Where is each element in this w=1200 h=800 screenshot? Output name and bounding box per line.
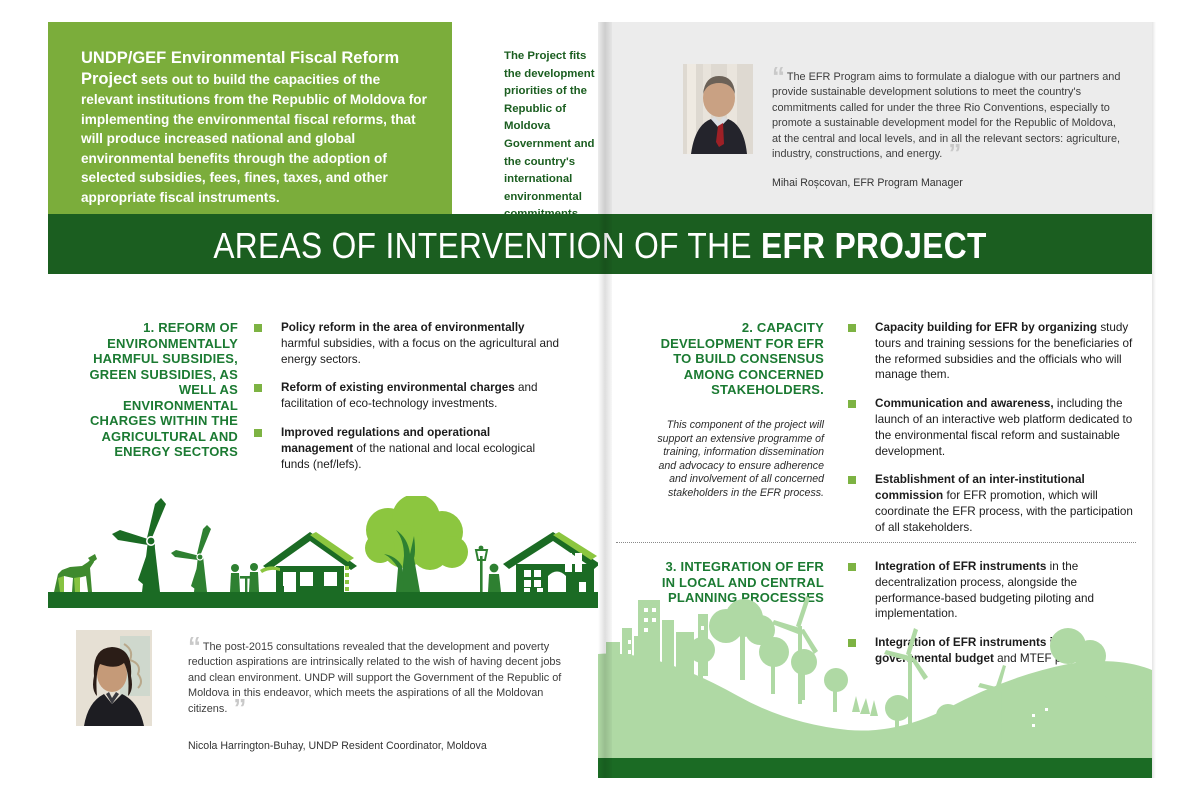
list-item: Improved regulations and operational man… xyxy=(254,425,564,472)
lamp-and-person-icon xyxy=(476,546,501,592)
title-emphasis: EFR PROJECT xyxy=(761,225,987,266)
right-page: 2. CAPACITY DEVELOPMENT FOR EFR TO BUILD… xyxy=(598,274,1152,778)
quote-close-mark: ” xyxy=(233,693,245,723)
intro-rest: sets out to build the capacities of the … xyxy=(81,72,427,205)
avatar-nicola-harrington-buhay xyxy=(76,630,152,726)
top-quote-attribution: Mihai Roșcovan, EFR Program Manager xyxy=(772,177,963,189)
intro-paragraph: UNDP/GEF Environmental Fiscal Reform Pro… xyxy=(81,48,431,207)
village-illustration xyxy=(48,496,598,608)
top-quote-panel: “ The EFR Program aims to formulate a di… xyxy=(598,22,1152,214)
section2-bullets: Capacity building for EFR by organizing … xyxy=(848,320,1140,549)
quote-close-mark: ” xyxy=(948,138,960,168)
page-title: AREAS OF INTERVENTION OF THE EFR PROJECT xyxy=(114,225,1086,267)
avatar-mihai-roscovan xyxy=(683,64,753,154)
list-item: Policy reform in the area of environment… xyxy=(254,320,564,367)
list-item: Communication and awareness, including t… xyxy=(848,396,1140,459)
section-divider xyxy=(616,542,1136,543)
page-right-edge xyxy=(1152,22,1156,778)
brochure-page: UNDP/GEF Environmental Fiscal Reform Pro… xyxy=(48,22,1152,778)
section1-bullets: Policy reform in the area of environment… xyxy=(254,320,564,485)
wind-turbine-icon xyxy=(112,498,166,592)
section1-heading: 1. REFORM OF ENVIRONMENTALLY HARMFUL SUB… xyxy=(62,320,238,460)
wind-turbine-icon-small xyxy=(171,525,211,592)
house-icon-1 xyxy=(260,532,357,594)
title-prefix: AREAS OF INTERVENTION OF THE xyxy=(213,225,761,266)
section2-note: This component of the project will suppo… xyxy=(652,419,824,501)
landscape-scene-svg xyxy=(598,584,1152,778)
house-icon-2 xyxy=(503,532,598,594)
section2-heading: 2. CAPACITY DEVELOPMENT FOR EFR TO BUILD… xyxy=(656,320,824,398)
tree-icon-large xyxy=(365,496,468,592)
list-item: Establishment of an inter-institutional … xyxy=(848,472,1140,535)
project-fits-column: The Project fits the development priorit… xyxy=(452,22,598,214)
quote-open-mark: “ xyxy=(188,631,200,661)
intro-green-block: UNDP/GEF Environmental Fiscal Reform Pro… xyxy=(48,22,452,214)
body-area: 1. REFORM OF ENVIRONMENTALLY HARMFUL SUB… xyxy=(48,274,1152,778)
bottom-quote-text: “ The post-2015 consultations revealed t… xyxy=(188,640,566,717)
portrait-photo-male xyxy=(683,64,753,154)
top-quote-text: “ The EFR Program aims to formulate a di… xyxy=(772,70,1122,162)
top-quote-body: The EFR Program aims to formulate a dial… xyxy=(772,71,1120,160)
top-band: UNDP/GEF Environmental Fiscal Reform Pro… xyxy=(48,22,1152,214)
left-page: 1. REFORM OF ENVIRONMENTALLY HARMFUL SUB… xyxy=(48,274,598,778)
village-scene-svg xyxy=(48,496,598,608)
bottom-quote-attribution: Nicola Harrington-Buhay, UNDP Resident C… xyxy=(188,740,487,752)
landscape-illustration xyxy=(598,584,1152,778)
project-fits-text: The Project fits the development priorit… xyxy=(504,48,599,224)
quote-open-mark: “ xyxy=(772,61,784,91)
bottom-quote-block: “ The post-2015 consultations revealed t… xyxy=(48,630,598,778)
section-title-bar: AREAS OF INTERVENTION OF THE EFR PROJECT xyxy=(48,214,1152,274)
portrait-photo-female xyxy=(76,630,152,726)
list-item: Reform of existing environmental charges… xyxy=(254,380,564,412)
list-item: Capacity building for EFR by organizing … xyxy=(848,320,1140,383)
people-at-table-icon xyxy=(230,563,259,592)
